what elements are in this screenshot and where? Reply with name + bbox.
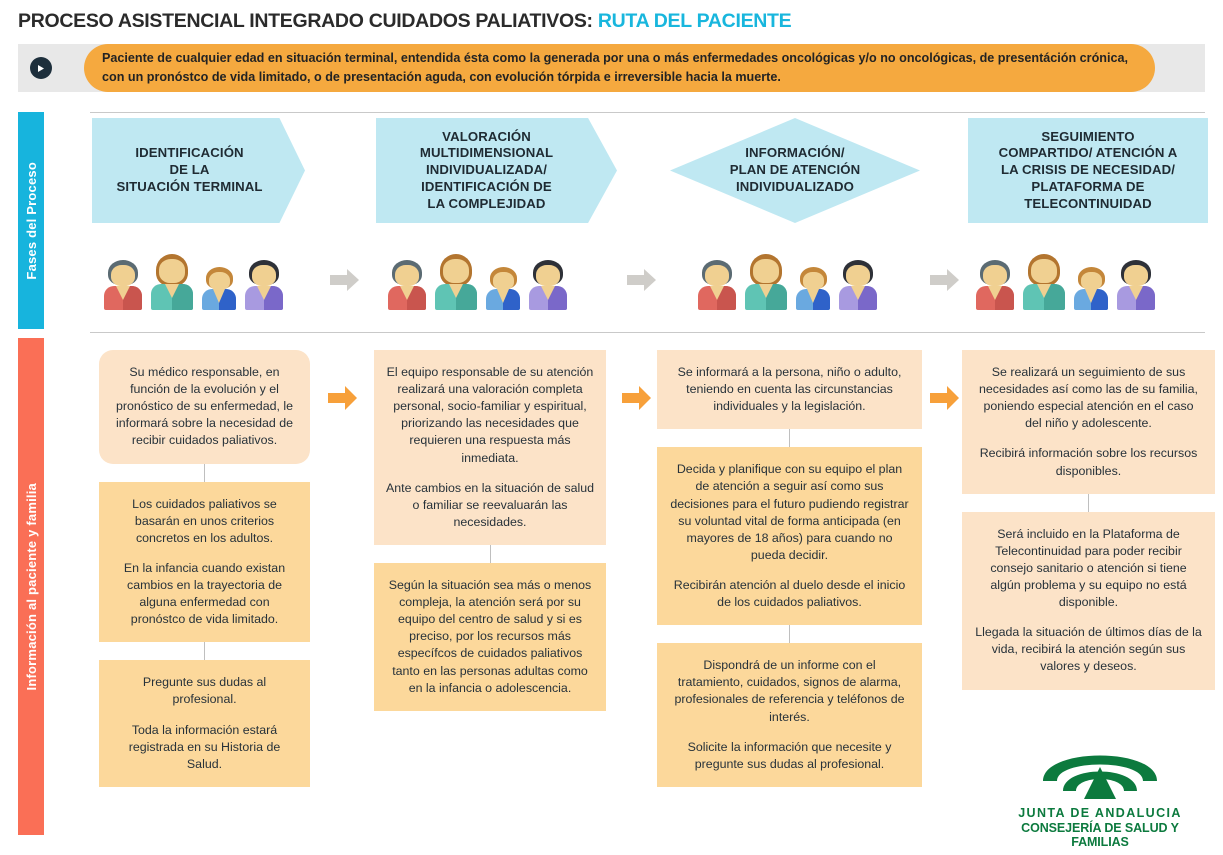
info-card: Según la situación sea más o menos compl… (374, 563, 606, 711)
info-column-3: Se informará a la persona, niño o adulto… (657, 350, 922, 787)
info-card-paragraph: Recibirán atención al duelo desde el ini… (669, 577, 910, 611)
person-face (493, 272, 514, 290)
person-icon (1023, 248, 1065, 310)
phase-label-1: IDENTIFICACIÓNDE LASITUACIÓN TERMINAL (110, 145, 268, 195)
info-card-paragraph: El equipo responsable de su atención rea… (386, 364, 594, 467)
logo-line-1: JUNTA DE ANDALUCIA (1000, 806, 1200, 820)
info-card-paragraph: Llegada la situación de últimos días de … (974, 624, 1203, 675)
person-icon (388, 248, 426, 310)
info-card-paragraph: Dispondrá de un informe con el tratamien… (669, 657, 910, 725)
phase-shape-2: VALORACIÓNMULTIDIMENSIONALINDIVIDUALIZAD… (376, 118, 617, 223)
sidebar-label-phases-text: Fases del Proceso (24, 162, 39, 280)
person-collar (1129, 286, 1143, 300)
person-collar (710, 286, 724, 300)
phase-shape-1: IDENTIFICACIÓNDE LASITUACIÓN TERMINAL (92, 118, 305, 223)
person-face (705, 265, 729, 286)
sidebar-label-patient-info: Información al paciente y familia (18, 338, 44, 835)
info-card-paragraph: Será incluido en la Plataforma de Teleco… (974, 526, 1203, 612)
arrow-right-icon-orange-1 (328, 385, 358, 411)
card-connector (789, 625, 790, 643)
info-card: El equipo responsable de su atención rea… (374, 350, 606, 545)
person-collar (1085, 289, 1097, 303)
person-face (252, 265, 276, 286)
page-title-accent: RUTA DEL PACIENTE (598, 10, 792, 32)
person-collar (851, 286, 865, 300)
arrow-right-icon-grey-3 (930, 268, 960, 292)
people-group-4 (976, 248, 1155, 310)
info-card-paragraph: Pregunte sus dudas al profesional. (111, 674, 298, 708)
person-collar (988, 286, 1002, 300)
andalucia-arches-icon (1035, 735, 1165, 805)
person-icon (745, 248, 787, 310)
card-connector (789, 429, 790, 447)
person-collar (257, 286, 271, 300)
person-icon (435, 248, 477, 310)
person-collar (116, 286, 130, 300)
definition-banner: Paciente de cualquier edad en situación … (84, 44, 1155, 92)
person-icon (486, 248, 520, 310)
person-collar (165, 284, 179, 298)
person-icon (151, 248, 193, 310)
info-card-paragraph: Se realizará un seguimiento de sus neces… (974, 364, 1203, 432)
phase-label-4: SEGUIMIENTOCOMPARTIDO/ ATENCIÓN ALA CRIS… (993, 129, 1184, 213)
info-card-paragraph: En la infancia cuando existan cambios en… (111, 560, 298, 628)
info-card-paragraph: Toda la información estará registrada en… (111, 722, 298, 773)
people-group-1 (104, 248, 283, 310)
person-face (1124, 265, 1148, 286)
person-face (803, 272, 824, 290)
person-face (846, 265, 870, 286)
person-collar (759, 284, 773, 298)
person-collar (541, 286, 555, 300)
info-card: Dispondrá de un informe con el tratamien… (657, 643, 922, 787)
person-icon (202, 248, 236, 310)
info-card-paragraph: Solicite la información que necesite y p… (669, 739, 910, 773)
info-column-1: Su médico responsable, en función de la … (99, 350, 310, 787)
person-collar (807, 289, 819, 303)
arrow-right-icon-orange-3 (930, 385, 960, 411)
person-icon (104, 248, 142, 310)
phase-shape-4: SEGUIMIENTOCOMPARTIDO/ ATENCIÓN ALA CRIS… (968, 118, 1208, 223)
info-column-2: El equipo responsable de su atención rea… (374, 350, 606, 711)
page-title: PROCESO ASISTENCIAL INTEGRADO CUIDADOS P… (18, 10, 791, 33)
card-connector (490, 545, 491, 563)
person-face (753, 259, 779, 283)
person-icon (698, 248, 736, 310)
person-face (209, 272, 230, 290)
person-face (443, 259, 469, 283)
definition-text: Paciente de cualquier edad en situación … (102, 49, 1137, 87)
info-card-paragraph: Recibirá información sobre los recursos … (974, 445, 1203, 479)
info-card-paragraph: Se informará a la persona, niño o adulto… (669, 364, 910, 415)
card-connector (204, 464, 205, 482)
person-face (1081, 272, 1102, 290)
junta-de-andalucia-icon: JUNTA DE ANDALUCIA CONSEJERÍA DE SALUD Y… (1000, 735, 1200, 849)
divider-top (90, 112, 1205, 113)
info-card: Pregunte sus dudas al profesional.Toda l… (99, 660, 310, 787)
person-icon (839, 248, 877, 310)
logo-line-2: CONSEJERÍA DE SALUD Y FAMILIAS (1000, 821, 1200, 849)
person-face (111, 265, 135, 286)
page-title-main: PROCESO ASISTENCIAL INTEGRADO CUIDADOS P… (18, 10, 598, 32)
sidebar-label-patient-info-text: Información al paciente y familia (24, 483, 39, 690)
person-collar (497, 289, 509, 303)
person-icon (796, 248, 830, 310)
info-card: Será incluido en la Plataforma de Teleco… (962, 512, 1215, 690)
person-face (395, 265, 419, 286)
person-face (536, 265, 560, 286)
person-collar (449, 284, 463, 298)
people-group-2 (388, 248, 567, 310)
phase-shape-3: INFORMACIÓN/PLAN DE ATENCIÓNINDIVIDUALIZ… (670, 118, 920, 223)
person-icon (529, 248, 567, 310)
info-card: Se informará a la persona, niño o adulto… (657, 350, 922, 429)
info-card-paragraph: Ante cambios en la situación de salud o … (386, 480, 594, 531)
arrow-right-icon-grey-1 (330, 268, 360, 292)
divider-middle (90, 332, 1205, 333)
person-collar (213, 289, 225, 303)
person-collar (1037, 284, 1051, 298)
info-card-paragraph: Su médico responsable, en función de la … (111, 364, 298, 450)
person-icon (245, 248, 283, 310)
phase-label-2: VALORACIÓNMULTIDIMENSIONALINDIVIDUALIZAD… (414, 129, 559, 213)
phase-label-3: INFORMACIÓN/PLAN DE ATENCIÓNINDIVIDUALIZ… (724, 145, 867, 195)
person-icon (1117, 248, 1155, 310)
info-card-paragraph: Decida y planifique con su equipo el pla… (669, 461, 910, 564)
person-face (159, 259, 185, 283)
arrow-right-circle-icon (30, 57, 52, 79)
card-connector (204, 642, 205, 660)
info-card: Su médico responsable, en función de la … (99, 350, 310, 464)
info-card: Se realizará un seguimiento de sus neces… (962, 350, 1215, 494)
info-card: Los cuidados paliativos se basarán en un… (99, 482, 310, 643)
person-icon (1074, 248, 1108, 310)
infographic-page: PROCESO ASISTENCIAL INTEGRADO CUIDADOS P… (0, 0, 1223, 855)
people-group-3 (698, 248, 877, 310)
info-card-paragraph: Según la situación sea más o menos compl… (386, 577, 594, 697)
sidebar-label-phases: Fases del Proceso (18, 112, 44, 329)
person-icon (976, 248, 1014, 310)
info-card: Decida y planifique con su equipo el pla… (657, 447, 922, 625)
arrow-right-icon-orange-2 (622, 385, 652, 411)
person-collar (400, 286, 414, 300)
info-card-paragraph: Los cuidados paliativos se basarán en un… (111, 496, 298, 547)
card-connector (1088, 494, 1089, 512)
person-face (983, 265, 1007, 286)
person-face (1031, 259, 1057, 283)
arrow-right-icon-grey-2 (627, 268, 657, 292)
info-column-4: Se realizará un seguimiento de sus neces… (962, 350, 1215, 690)
